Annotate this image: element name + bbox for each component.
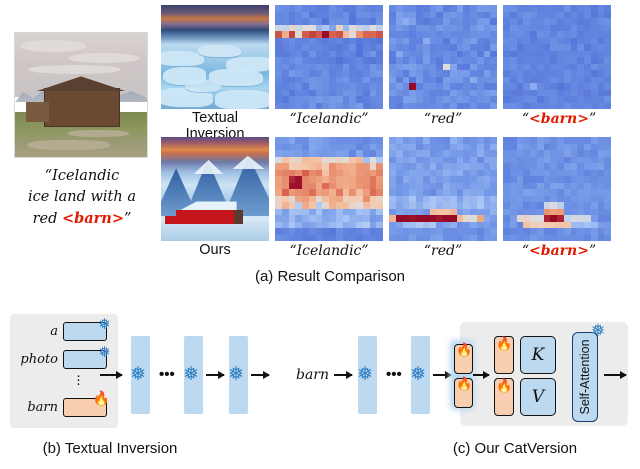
col-label-red-row1: “red”: [385, 111, 501, 127]
snowflake-icon: ❅: [130, 365, 146, 384]
snowflake-icon: ❅: [357, 365, 373, 384]
embedding-block-2: 🔥: [454, 378, 473, 408]
prompt-line-3: red <barn>”: [8, 208, 156, 230]
col-label-barn-row1: “<barn>”: [499, 111, 619, 127]
barn-shed: [26, 102, 50, 122]
fire-icon: 🔥: [93, 391, 110, 405]
snowflake-icon: ❅: [228, 365, 244, 384]
fire-icon: 🔥: [456, 343, 472, 356]
heatmap-ours-icelandic: [275, 137, 383, 241]
prompt-line-3-prefix: red: [33, 211, 62, 227]
encoder-ellipsis-c: •••: [386, 371, 402, 379]
col-label-barn-token-row1: <barn>: [529, 111, 589, 127]
heatmap-ti-red: [389, 5, 497, 109]
input-token-barn: barn: [296, 367, 329, 383]
caption-panel-c: (c) Our CatVersion: [400, 440, 630, 457]
arrow-embed-to-kv: [473, 374, 489, 376]
arrow-token-to-encoder-c: [334, 374, 352, 376]
result-image-ours: [161, 137, 269, 241]
token-label-a: a: [12, 324, 63, 339]
embedding-block-1: 🔥: [454, 344, 473, 374]
snowflake-icon: ❅: [591, 322, 605, 339]
k-block: K: [520, 336, 556, 374]
token-ellipsis: ···: [76, 374, 81, 386]
token-box-barn: 🔥: [63, 398, 107, 417]
heatmap-ours-red: [389, 137, 497, 241]
prompt-line-3-suffix: ”: [124, 211, 131, 227]
token-label-photo: photo: [12, 352, 63, 367]
token-label-barn: barn: [12, 400, 63, 415]
caption-panel-b: (b) Textual Inversion: [10, 440, 210, 457]
token-row-a: a ❅: [12, 322, 107, 341]
arrow-tokens-to-encoder: [100, 374, 122, 376]
arrow-encoder-to-embed: [433, 374, 451, 376]
arrow-encoder-out-b: [251, 374, 269, 376]
snowflake-icon: ❅: [98, 345, 111, 360]
arrow-attention-out: [604, 374, 626, 376]
fire-icon: 🔥: [456, 377, 472, 390]
col-label-red-row2: “red”: [385, 243, 501, 259]
result-image-textual-inversion: [161, 5, 269, 109]
token-row-photo: photo ❅: [12, 350, 107, 369]
prompt-caption: “Icelandic ice land with a red <barn>”: [8, 166, 156, 230]
col-label-barn-row2: “<barn>”: [499, 243, 619, 259]
encoder-ellipsis: •••: [159, 371, 175, 379]
self-attention-label: Self-Attention: [578, 339, 592, 414]
heatmap-ti-barn: [503, 5, 611, 109]
snowflake-icon: ❅: [98, 317, 111, 332]
col-label-icelandic-row2: “Icelandic”: [271, 243, 387, 259]
token-box-photo: ❅: [63, 350, 107, 369]
arrow-block2-to-block3: [206, 374, 224, 376]
col-label-icelandic-row1: “Icelandic”: [271, 111, 387, 127]
token-box-a: ❅: [63, 322, 107, 341]
fire-icon: 🔥: [496, 379, 512, 392]
barn-body: [44, 88, 120, 127]
prompt-line-1: “Icelandic: [8, 166, 156, 187]
fire-icon: 🔥: [496, 337, 512, 350]
self-attention-block: Self-Attention: [572, 332, 598, 422]
prompt-placeholder-token: <barn>: [62, 210, 124, 227]
v-block: V: [520, 378, 556, 416]
heatmap-ours-barn: [503, 137, 611, 241]
delta-block-v: 🔥: [494, 378, 514, 416]
snowflake-icon: ❅: [410, 365, 426, 384]
heatmap-ti-icelandic: [275, 5, 383, 109]
row-label-ours: Ours: [161, 242, 269, 258]
prompt-line-2: ice land with a: [8, 187, 156, 208]
col-label-barn-token-row2: <barn>: [529, 243, 589, 259]
caption-panel-a: (a) Result Comparison: [190, 268, 470, 285]
reference-image: [14, 32, 148, 158]
token-row-barn: barn 🔥: [12, 398, 107, 417]
snowflake-icon: ❅: [183, 365, 199, 384]
delta-block-k: 🔥: [494, 336, 514, 374]
